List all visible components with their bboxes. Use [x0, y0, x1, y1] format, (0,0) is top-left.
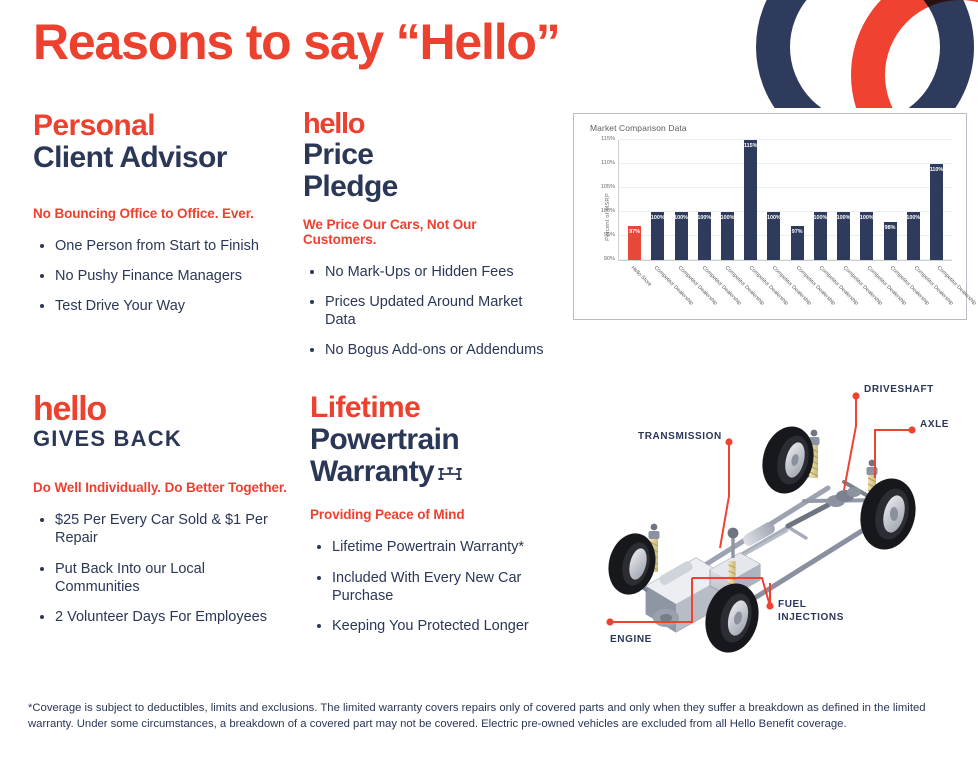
chart-bar[interactable]: 100%	[837, 212, 850, 260]
feature-price-pledge: hello Price Pledge We Price Our Cars, No…	[303, 110, 553, 371]
chart-bar-wrapper: 100%	[716, 140, 739, 260]
feature-bullet-list: One Person from Start to Finish No Pushy…	[33, 237, 283, 315]
chart-bar[interactable]: 100%	[814, 212, 827, 260]
feature-heading-line2: Price	[303, 139, 553, 171]
marketing-infographic-page: Reasons to say “Hello” Personal Client A…	[0, 0, 978, 768]
chart-bar[interactable]: 98%	[884, 222, 897, 260]
feature-heading-line2: Client Advisor	[33, 142, 283, 174]
chart-x-label-wrapper: Competitor Dealership	[693, 263, 717, 313]
callout-driveshaft: DRIVESHAFT	[864, 384, 934, 397]
chart-x-label-wrapper: Competitor Dealership	[811, 263, 835, 313]
feature-heading-line1: Personal	[33, 110, 283, 142]
chart-bar[interactable]: 100%	[675, 212, 688, 260]
chart-x-label-wrapper: Competitor Dealership	[763, 263, 787, 313]
chart-x-label-wrapper: Competitor Dealership	[646, 263, 670, 313]
chart-y-tick-label: 115%	[601, 136, 615, 142]
feature-tagline: Providing Peace of Mind	[310, 507, 575, 522]
chart-x-label-wrapper: Competitor Dealership	[881, 263, 905, 313]
footnote-disclaimer: *Coverage is subject to deductibles, lim…	[28, 700, 948, 733]
chart-bar[interactable]: 100%	[860, 212, 873, 260]
callout-fuel-injections: FUEL INJECTIONS	[778, 599, 848, 624]
feature-heading: hello GIVES BACK	[33, 392, 293, 451]
red-ring-icon	[851, 0, 978, 108]
chart-x-axis-labels: Hello StoreCompetitor DealershipCompetit…	[622, 263, 952, 313]
chart-bar-wrapper: 110%	[925, 140, 948, 260]
list-item: $25 Per Every Car Sold & $1 Per Repair	[33, 511, 293, 547]
chart-bar-value-label: 100%	[651, 215, 665, 221]
feature-tagline: Do Well Individually. Do Better Together…	[33, 480, 293, 495]
feature-lifetime-powertrain-warranty: Lifetime Powertrain Warranty Providing P…	[310, 392, 575, 647]
chart-x-label-wrapper: Competitor Dealership	[858, 263, 882, 313]
chart-bar-value-label: 110%	[930, 167, 944, 173]
feature-tagline: No Bouncing Office to Office. Ever.	[33, 206, 283, 221]
feature-heading-line1: Lifetime	[310, 392, 575, 424]
feature-heading: Personal Client Advisor	[33, 110, 283, 174]
feature-bullet-list: Lifetime Powertrain Warranty* Included W…	[310, 538, 575, 635]
feature-heading-line3: Pledge	[303, 171, 553, 203]
chart-x-label-wrapper: Competitor Dealership	[716, 263, 740, 313]
chart-bar[interactable]: 115%	[744, 140, 757, 260]
chart-bar-value-label: 100%	[813, 215, 827, 221]
chart-bar-value-label: 100%	[906, 215, 920, 221]
chart-bar[interactable]: 100%	[651, 212, 664, 260]
feature-tagline: We Price Our Cars, Not Our Customers.	[303, 217, 553, 247]
feature-hello-gives-back: hello GIVES BACK Do Well Individually. D…	[33, 392, 293, 638]
list-item: No Pushy Finance Managers	[33, 267, 283, 285]
chart-bar-value-label: 98%	[885, 225, 896, 231]
chart-y-tick-label: 105%	[601, 184, 615, 190]
list-item: No Bogus Add-ons or Addendums	[303, 341, 553, 359]
chart-bar-wrapper: 100%	[669, 140, 692, 260]
list-item: Keeping You Protected Longer	[310, 617, 575, 635]
chart-bar-wrapper: 115%	[739, 140, 762, 260]
list-item: Put Back Into our Local Communities	[33, 560, 293, 596]
chart-bar[interactable]: 100%	[907, 212, 920, 260]
chart-bars: 97%100%100%100%100%115%100%97%100%100%10…	[623, 140, 948, 260]
chart-bar-value-label: 100%	[767, 215, 781, 221]
chart-x-label-wrapper: Competitor Dealership	[929, 263, 953, 313]
chart-y-tick-label: 100%	[601, 208, 615, 214]
feature-heading-line2: Powertrain	[310, 424, 575, 456]
chart-bar-wrapper: 97%	[786, 140, 809, 260]
chart-bar-wrapper: 100%	[762, 140, 785, 260]
chart-bar[interactable]: 100%	[721, 212, 734, 260]
feature-heading: Lifetime Powertrain Warranty	[310, 392, 575, 489]
chart-x-label-wrapper: Competitor Dealership	[787, 263, 811, 313]
chart-bar-wrapper: 100%	[693, 140, 716, 260]
chart-x-label-wrapper: Competitor Dealership	[740, 263, 764, 313]
chart-y-tick-label: 110%	[601, 160, 615, 166]
chart-x-label-wrapper: Hello Store	[622, 263, 646, 313]
chart-axes: 90%95%100%105%110%115% 97%100%100%100%10…	[618, 140, 952, 261]
chart-bar-value-label: 100%	[674, 215, 688, 221]
list-item: Test Drive Your Way	[33, 297, 283, 315]
chart-bar-wrapper: 100%	[809, 140, 832, 260]
chart-y-tick-label: 90%	[604, 256, 615, 262]
chart-bar-value-label: 97%	[792, 229, 803, 235]
callout-axle: AXLE	[920, 419, 949, 432]
chart-x-tick-label: Competitor Dealership	[936, 265, 978, 307]
feature-bullet-list: No Mark-Ups or Hidden Fees Prices Update…	[303, 263, 553, 360]
list-item: One Person from Start to Finish	[33, 237, 283, 255]
feature-personal-client-advisor: Personal Client Advisor No Bouncing Offi…	[33, 110, 283, 327]
chart-y-tick-label: 95%	[604, 232, 615, 238]
chart-title: Market Comparison Data	[590, 123, 687, 133]
chart-bar-value-label: 97%	[629, 229, 640, 235]
chart-bar[interactable]: 97%	[628, 226, 641, 260]
chart-bar[interactable]: 97%	[791, 226, 804, 260]
list-item: Prices Updated Around Market Data	[303, 293, 553, 329]
feature-heading-line3: Warranty	[310, 456, 575, 490]
chart-bar-value-label: 115%	[744, 143, 758, 149]
chart-bar-value-label: 100%	[860, 215, 874, 221]
page-title: Reasons to say “Hello”	[33, 14, 560, 72]
market-comparison-chart: Market Comparison Data Percent of MSRP 9…	[573, 113, 967, 320]
feature-bullet-list: $25 Per Every Car Sold & $1 Per Repair P…	[33, 511, 293, 626]
list-item: Included With Every New Car Purchase	[310, 569, 575, 605]
chart-x-label-wrapper: Competitor Dealership	[669, 263, 693, 313]
chart-bar-value-label: 100%	[697, 215, 711, 221]
navy-ring-icon	[756, 0, 974, 108]
chart-bar[interactable]: 100%	[767, 212, 780, 260]
hello-wordmark: hello	[33, 392, 293, 426]
feature-heading-line3-text: Warranty	[310, 455, 434, 488]
chart-plot-area: 90%95%100%105%110%115% 97%100%100%100%10…	[618, 140, 952, 261]
callout-engine: ENGINE	[610, 634, 652, 647]
chart-bar[interactable]: 110%	[930, 164, 943, 260]
chart-x-label-wrapper: Competitor Dealership	[834, 263, 858, 313]
chart-bar-value-label: 100%	[837, 215, 851, 221]
axle-chassis-icon	[437, 458, 463, 490]
feature-heading-line2: GIVES BACK	[33, 426, 293, 451]
feature-heading: hello Price Pledge	[303, 110, 553, 203]
hello-wordmark: hello	[303, 110, 553, 139]
chart-bar-wrapper: 100%	[902, 140, 925, 260]
chart-bar-wrapper: 97%	[623, 140, 646, 260]
chart-bar-value-label: 100%	[721, 215, 735, 221]
decorative-rings	[746, 0, 978, 108]
list-item: 2 Volunteer Days For Employees	[33, 608, 293, 626]
chart-bar[interactable]: 100%	[698, 212, 711, 260]
car-chassis-diagram: DRIVESHAFT AXLE TRANSMISSION FUEL INJECT…	[592, 378, 974, 660]
chart-bar-wrapper: 100%	[646, 140, 669, 260]
chart-bar-wrapper: 100%	[832, 140, 855, 260]
callout-transmission: TRANSMISSION	[638, 431, 722, 444]
list-item: Lifetime Powertrain Warranty*	[310, 538, 575, 556]
chart-x-label-wrapper: Competitor Dealership	[905, 263, 929, 313]
chart-bar-wrapper: 100%	[855, 140, 878, 260]
chart-bar-wrapper: 98%	[878, 140, 901, 260]
list-item: No Mark-Ups or Hidden Fees	[303, 263, 553, 281]
